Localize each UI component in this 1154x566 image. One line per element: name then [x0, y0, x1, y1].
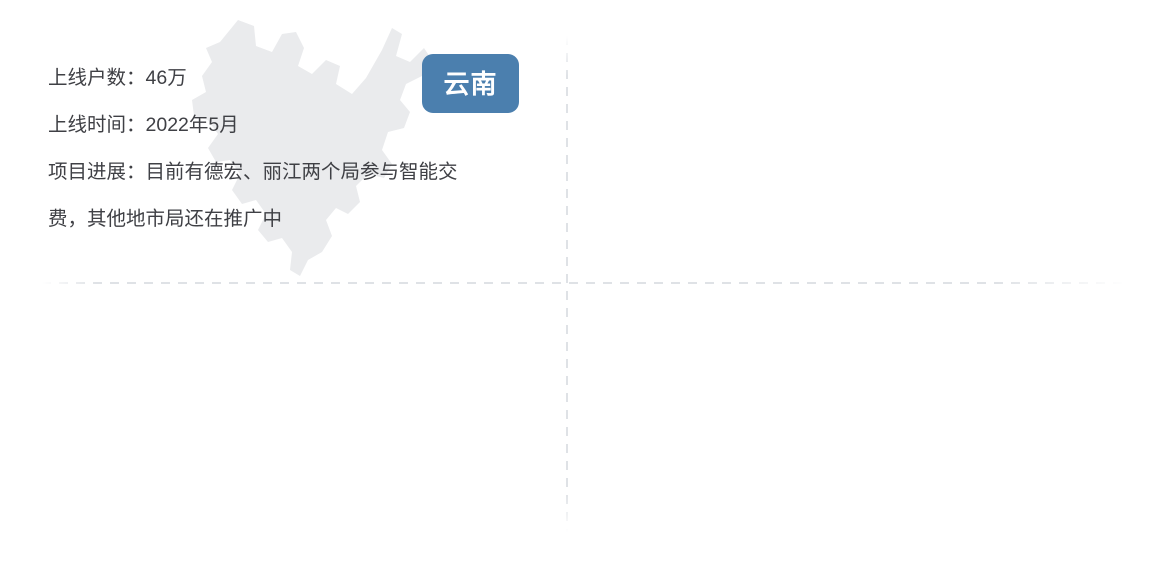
- info-line: 上线时间：2022年5月: [48, 102, 458, 149]
- info-block-yunnan: 上线户数：46万 上线时间：2022年5月 项目进展：目前有德宏、丽江两个局参与…: [48, 55, 458, 243]
- info-line: 上线户数：46万: [48, 55, 458, 102]
- badge-yunnan[interactable]: 云南: [422, 54, 519, 113]
- province-progress-grid: 云南 上线户数：46万 上线时间：2022年5月 项目进展：目前有德宏、丽江两个…: [0, 0, 1154, 566]
- info-line: 费，其他地市局还在推广中: [48, 196, 458, 243]
- info-line: 项目进展：目前有德宏、丽江两个局参与智能交: [48, 149, 458, 196]
- card-hainan: 海南 上线时间：待定 项目进展：目前海南仍处于双轨阶段，使用全省 数据进行测试比…: [0, 283, 566, 566]
- card-yunnan: 云南 上线户数：46万 上线时间：2022年5月 项目进展：目前有德宏、丽江两个…: [0, 0, 566, 283]
- card-guizhou: 贵州 上线户数：1万 上线时间：2022年7月 项目进展：使用小批量用户进行日算…: [578, 0, 1144, 283]
- vertical-divider: [566, 36, 568, 532]
- card-shenzhen: 深圳 上线户数：20万 上线时间：2022年4月 项目进展：后续逐步将全深圳费控…: [578, 283, 1144, 566]
